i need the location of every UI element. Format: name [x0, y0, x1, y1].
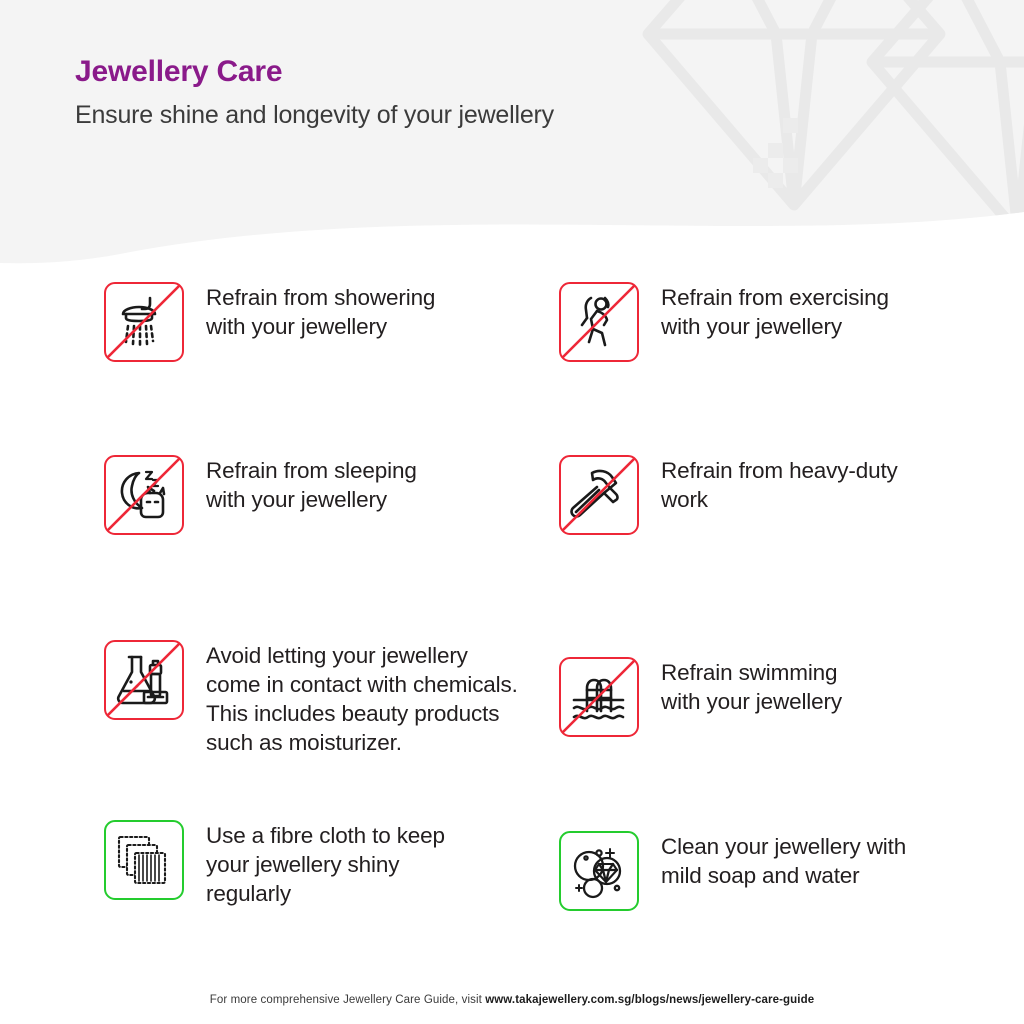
tip-item-sleeping[interactable]: Refrain from sleeping with your jeweller…: [104, 455, 417, 535]
tip-line: with your jewellery: [661, 687, 842, 716]
tip-item-heavy-duty-work[interactable]: Refrain from heavy-duty work: [559, 455, 898, 535]
tip-line: Use a fibre cloth to keep: [206, 821, 445, 850]
chemicals-flask-icon: [104, 640, 184, 720]
tip-line: Refrain from heavy-duty: [661, 456, 898, 485]
tip-item-exercising[interactable]: Refrain from exercising with your jewell…: [559, 282, 889, 362]
tip-line: such as moisturizer.: [206, 728, 518, 757]
tip-line: your jewellery shiny: [206, 850, 445, 879]
tip-line: regularly: [206, 879, 445, 908]
page-subtitle: Ensure shine and longevity of your jewel…: [75, 101, 554, 130]
tip-item-swimming[interactable]: Refrain swimming with your jewellery: [559, 657, 842, 737]
shower-icon: [104, 282, 184, 362]
tip-text: Refrain from sleeping with your jeweller…: [206, 455, 417, 514]
tip-line: with your jewellery: [661, 312, 889, 341]
soap-bubbles-diamond-icon: [559, 831, 639, 911]
tip-line: Refrain from showering: [206, 283, 435, 312]
page-title: Jewellery Care: [75, 55, 554, 88]
strike-through-line: [106, 457, 181, 532]
tip-line: Refrain swimming: [661, 658, 842, 687]
swimming-pool-icon: [559, 657, 639, 737]
tip-line: with your jewellery: [206, 485, 417, 514]
tip-text: Refrain swimming with your jewellery: [661, 657, 842, 716]
tip-line: Refrain from sleeping: [206, 456, 417, 485]
tip-text: Clean your jewellery with mild soap and …: [661, 831, 906, 890]
header-text-group: Jewellery Care Ensure shine and longevit…: [75, 55, 554, 130]
strike-through-line: [561, 659, 636, 734]
fibre-cloth-icon: [104, 820, 184, 900]
header-background-shape: [0, 0, 1024, 275]
tip-item-fibre-cloth[interactable]: Use a fibre cloth to keep your jewellery…: [104, 820, 445, 908]
tip-text: Avoid letting your jewellery come in con…: [206, 640, 518, 757]
header-band: Jewellery Care Ensure shine and longevit…: [0, 0, 1024, 275]
strike-through-line: [106, 642, 181, 717]
footer: For more comprehensive Jewellery Care Gu…: [0, 994, 1024, 1006]
hammer-icon: [559, 455, 639, 535]
tip-line: This includes beauty products: [206, 699, 518, 728]
tip-item-showering[interactable]: Refrain from showering with your jewelle…: [104, 282, 435, 362]
strike-through-line: [106, 284, 181, 359]
footer-prefix-text: For more comprehensive Jewellery Care Gu…: [210, 994, 485, 1006]
tip-text: Refrain from exercising with your jewell…: [661, 282, 889, 341]
tip-text: Refrain from showering with your jewelle…: [206, 282, 435, 341]
tip-line: with your jewellery: [206, 312, 435, 341]
tip-line: Avoid letting your jewellery: [206, 641, 518, 670]
tip-line: Refrain from exercising: [661, 283, 889, 312]
tip-item-chemicals[interactable]: Avoid letting your jewellery come in con…: [104, 640, 518, 757]
exercising-person-icon: [559, 282, 639, 362]
sleeping-moon-cat-icon: [104, 455, 184, 535]
tip-line: mild soap and water: [661, 861, 906, 890]
footer-url-link[interactable]: www.takajewellery.com.sg/blogs/news/jewe…: [485, 994, 814, 1006]
tip-text: Use a fibre cloth to keep your jewellery…: [206, 820, 445, 908]
tip-line: work: [661, 485, 898, 514]
strike-through-line: [561, 284, 636, 359]
tip-text: Refrain from heavy-duty work: [661, 455, 898, 514]
tip-line: come in contact with chemicals.: [206, 670, 518, 699]
tip-item-clean-with-soap[interactable]: Clean your jewellery with mild soap and …: [559, 831, 906, 911]
strike-through-line: [561, 457, 636, 532]
tip-line: Clean your jewellery with: [661, 832, 906, 861]
